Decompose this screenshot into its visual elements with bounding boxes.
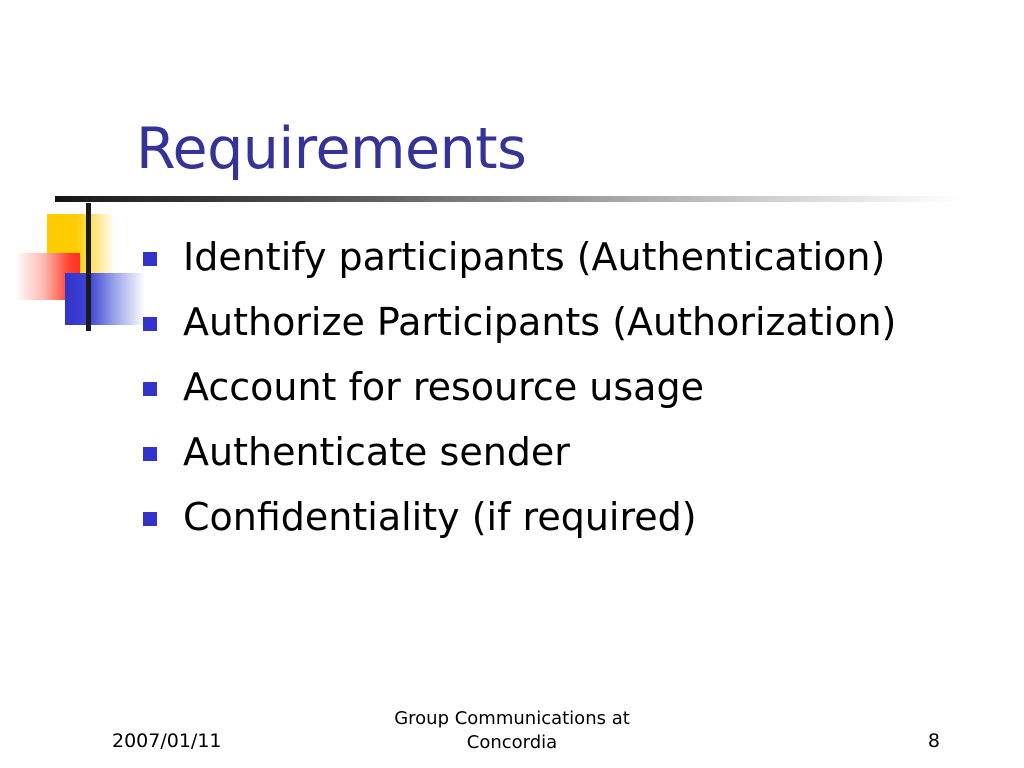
decoration-yellow-square-icon xyxy=(47,214,115,276)
bullet-square-icon xyxy=(143,512,157,526)
list-item-label: Authorize Participants (Authorization) xyxy=(183,298,896,346)
list-item: Account for resource usage xyxy=(143,363,983,428)
footer-date: 2007/01/11 xyxy=(112,730,222,752)
bullet-square-icon xyxy=(143,447,157,461)
slide-number: 8 xyxy=(928,730,940,752)
list-item-label: Identify participants (Authentication) xyxy=(183,233,885,281)
decoration-red-square-icon xyxy=(15,253,80,300)
list-item-label: Account for resource usage xyxy=(183,363,704,411)
title-divider xyxy=(55,196,963,202)
bullet-square-icon xyxy=(143,382,157,396)
bullet-square-icon xyxy=(143,252,157,266)
list-item-label: Authenticate sender xyxy=(183,428,570,476)
list-item: Identify participants (Authentication) xyxy=(143,233,983,298)
page-title: Requirements xyxy=(136,121,526,178)
bullet-list: Identify participants (Authentication) A… xyxy=(143,233,983,558)
decoration-blue-square-icon xyxy=(65,273,145,325)
footer-title: Group Communications at Concordia xyxy=(347,707,677,755)
list-item-label: Confidentiality (if required) xyxy=(183,493,697,541)
list-item: Confidentiality (if required) xyxy=(143,493,983,558)
list-item: Authenticate sender xyxy=(143,428,983,493)
list-item: Authorize Participants (Authorization) xyxy=(143,298,983,363)
slide-footer: 2007/01/11 Group Communications at Conco… xyxy=(0,698,1024,768)
bullet-square-icon xyxy=(143,317,157,331)
footer-title-line-2: Concordia xyxy=(347,731,677,755)
slide: Requirements Identify participants (Auth… xyxy=(0,0,1024,768)
decoration-vertical-line-icon xyxy=(86,203,91,331)
footer-title-line-1: Group Communications at xyxy=(347,707,677,731)
